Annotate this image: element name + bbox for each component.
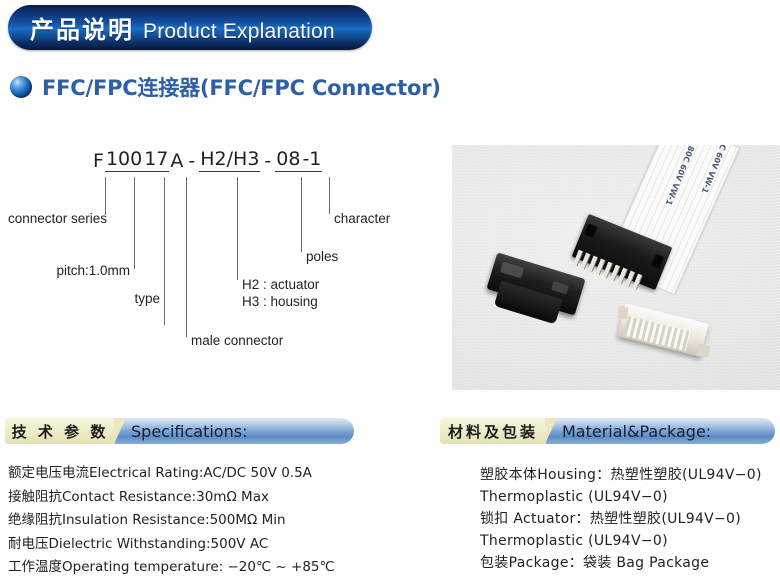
- callout-male-connector: male connector: [191, 332, 283, 350]
- actuator-slot-right: [551, 281, 569, 294]
- actuator-slot-left: [500, 261, 524, 278]
- leader-line-character: [329, 177, 330, 214]
- product-heading: FFC/FPC连接器(FFC/FPC Connector): [10, 70, 441, 104]
- material-row-actuator: 锁扣 Actuator：热塑性塑胶(UL94V−0): [480, 508, 780, 530]
- spec-header-cream-block: 技 术 参 数: [5, 418, 115, 444]
- callout-h3-housing: H3 : housing: [242, 293, 318, 311]
- leader-line-h2h3: [237, 177, 238, 280]
- spec-row-electrical-rating: 额定电压电流Electrical Rating:AC/DC 50V 0.5A: [8, 462, 408, 486]
- leader-line-male-connector: [186, 177, 187, 337]
- blue-sphere-bullet-icon: [10, 76, 32, 98]
- spec-row-insulation-resistance: 绝缘阻抗Insulation Resistance:500MΩ Min: [8, 509, 408, 533]
- pn-dash-2: -: [260, 150, 275, 172]
- material-section-header: 材料及包装 Material&Package:: [440, 418, 775, 444]
- material-row-actuator-thermoplastic: Thermoplastic (UL94V−0): [480, 530, 780, 552]
- pn-dash-1: -: [184, 150, 199, 172]
- part-number-code: F 100 17 A - H2/H3 - 08 -1: [92, 148, 322, 172]
- page-title-en: Product Explanation: [143, 20, 335, 44]
- leader-line-pitch: [134, 177, 135, 269]
- pn-segment-series: F: [92, 150, 105, 172]
- pn-segment-character: -1: [301, 148, 322, 172]
- header-notch-left: [584, 223, 598, 238]
- specifications-section-header: 技 术 参 数 Specifications:: [5, 418, 354, 444]
- part-number-diagram: F 100 17 A - H2/H3 - 08 -1 connector ser…: [0, 140, 440, 375]
- pn-segment-h2h3: H2/H3: [199, 148, 260, 172]
- spec-row-dielectric-withstanding: 耐电压Dielectric Withstanding:500V AC: [8, 533, 408, 557]
- leader-line-poles: [301, 177, 302, 252]
- callout-poles: poles: [306, 248, 338, 266]
- spec-header-cn: 技 术 参 数: [4, 421, 117, 442]
- callout-h2-actuator: H2 : actuator: [242, 276, 319, 294]
- spec-row-operating-temperature: 工作温度Operating temperature: −20℃ ~ +85℃: [8, 556, 408, 580]
- callout-connector-series: connector series: [8, 210, 101, 228]
- specifications-list: 额定电压电流Electrical Rating:AC/DC 50V 0.5A 接…: [8, 462, 408, 580]
- material-row-housing: 塑胶本体Housing：热塑性塑胶(UL94V−0): [480, 464, 780, 486]
- pn-segment-poles: 08: [275, 148, 301, 172]
- callout-type: type: [104, 290, 160, 308]
- material-row-package: 包装Package：袋装 Bag Package: [480, 552, 780, 574]
- pn-segment-male: A: [169, 150, 184, 172]
- pn-segment-type: 17: [143, 148, 169, 172]
- pn-segment-pitch: 100: [105, 148, 143, 172]
- callout-character: character: [334, 210, 390, 228]
- leader-line-connector-series: [105, 177, 106, 215]
- product-heading-label: FFC/FPC连接器(FFC/FPC Connector): [42, 72, 441, 102]
- material-header-cn: 材料及包装: [440, 421, 546, 442]
- callout-pitch: pitch:1.0mm: [30, 262, 130, 280]
- material-header-en: Material&Package:: [562, 418, 711, 444]
- material-row-housing-thermoplastic: Thermoplastic (UL94V−0): [480, 486, 780, 508]
- product-photo: 80C 60V VW-1 80C 60V VW-1: [452, 145, 780, 390]
- page-title-banner: 产品说明 Product Explanation: [8, 5, 372, 50]
- spec-row-contact-resistance: 接触阻抗Contact Resistance:30mΩ Max: [8, 486, 408, 510]
- page-title-cn: 产品说明: [30, 10, 134, 45]
- header-notch-right: [651, 254, 664, 269]
- leader-line-type: [164, 177, 165, 325]
- spec-header-en: Specifications:: [131, 418, 247, 444]
- material-package-list: 塑胶本体Housing：热塑性塑胶(UL94V−0) Thermoplastic…: [480, 464, 780, 574]
- material-header-cream-block: 材料及包装: [440, 418, 546, 444]
